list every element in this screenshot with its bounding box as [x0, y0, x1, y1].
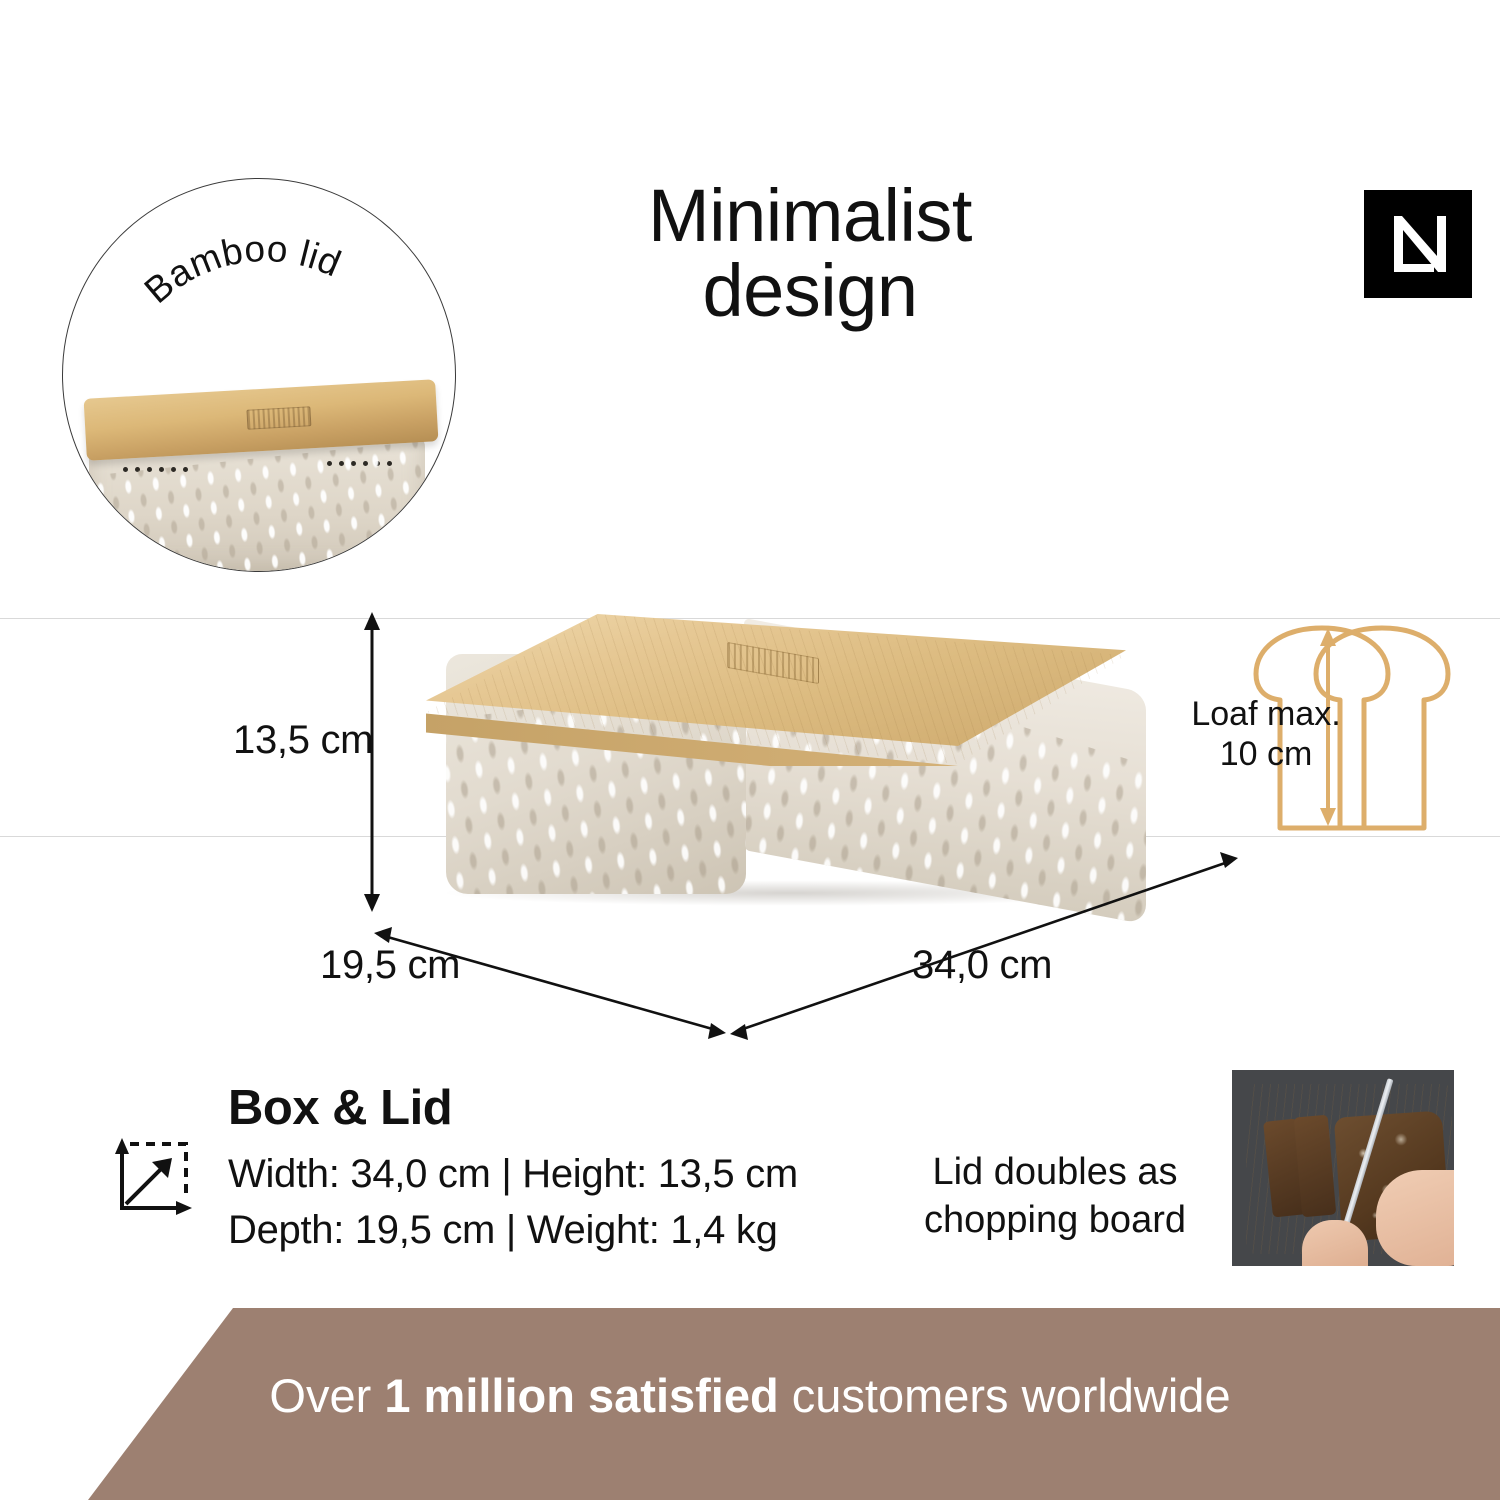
banner-text-prefix: Over — [269, 1369, 384, 1422]
banner-text-bold: 1 million satisfied — [384, 1369, 778, 1422]
banner-text-suffix: customers worldwide — [779, 1369, 1231, 1422]
bread-slice-2 — [1294, 1115, 1337, 1218]
chopping-caption-line-1: Lid doubles as — [932, 1151, 1177, 1193]
chopping-board-caption: Lid doubles as chopping board — [900, 1148, 1210, 1245]
specs-title: Box & Lid — [228, 1080, 452, 1136]
infographic-canvas: Minimalist design Bamboo lid 2,0 — [0, 0, 1500, 1500]
page-title-line-2: design — [500, 253, 1120, 328]
loaf-label-line-2: 10 cm — [1220, 735, 1313, 773]
hand-holding-knife — [1302, 1220, 1368, 1266]
lid-inset-product-photo — [63, 375, 456, 572]
chopping-caption-line-2: chopping board — [924, 1199, 1186, 1241]
bamboo-lid-arc-text: Bamboo lid — [137, 228, 347, 311]
page-title: Minimalist design — [500, 178, 1120, 329]
inset-lid-engraving — [246, 406, 311, 430]
width-dimension-label: 34,0 cm — [912, 943, 1052, 988]
loaf-capacity-label: Loaf max. 10 cm — [1186, 694, 1346, 774]
cutting-board — [1246, 1084, 1452, 1254]
hand-holding-loaf — [1376, 1170, 1454, 1266]
bamboo-lid — [426, 614, 1126, 764]
n-monogram-logo-icon — [1364, 190, 1472, 298]
page-title-line-1: Minimalist — [500, 178, 1120, 253]
bread-cutting-board-photo — [1232, 1070, 1454, 1266]
height-dimension-label: 13,5 cm — [233, 718, 373, 763]
specs-line-1: Width: 34,0 cm | Height: 13,5 cm — [228, 1152, 798, 1197]
bread-box-body — [426, 608, 1146, 896]
bread-box-product-photo — [404, 528, 1194, 928]
bamboo-lid-inset-circle: Bamboo lid 2,0 cm — [62, 178, 456, 572]
svg-text:Bamboo lid: Bamboo lid — [137, 228, 347, 311]
banner-text: Over 1 million satisfied customers world… — [0, 1368, 1500, 1423]
inset-vent-holes-left — [123, 467, 188, 472]
dimensions-resize-icon — [108, 1136, 194, 1222]
inset-vent-holes-right — [327, 461, 392, 466]
depth-dimension-label: 19,5 cm — [320, 943, 460, 988]
loaf-label-line-1: Loaf max. — [1191, 695, 1340, 733]
specs-line-2: Depth: 19,5 cm | Weight: 1,4 kg — [228, 1208, 778, 1253]
